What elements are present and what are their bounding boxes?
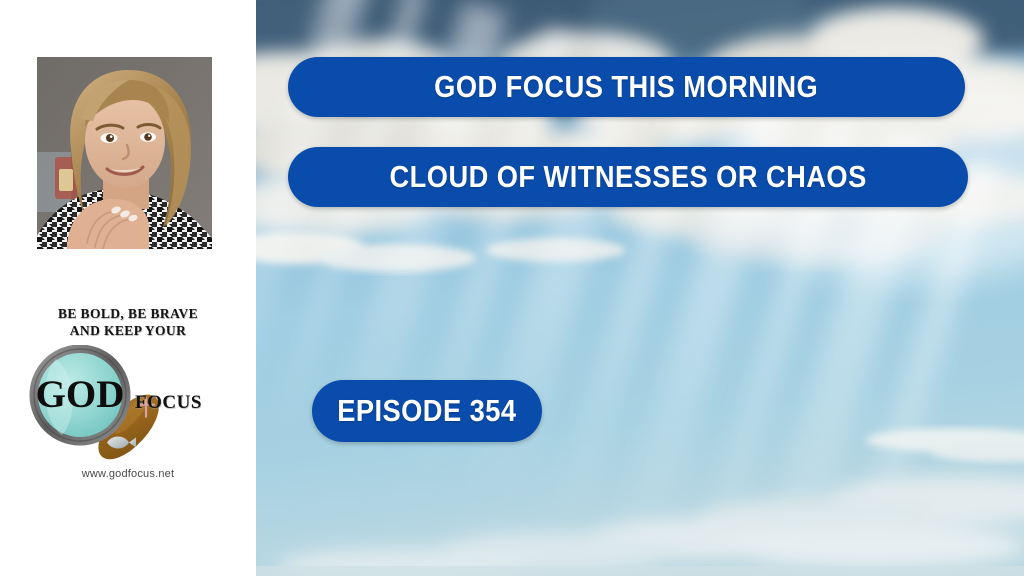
portrait-illustration — [37, 57, 212, 249]
lens-word-god: GOD — [36, 373, 125, 416]
tagline-line-1: BE BOLD, BE BRAVE — [58, 306, 198, 321]
logo-focus-word: FOCUS — [135, 392, 202, 414]
banner-episode-title[interactable]: CLOUD OF WITNESSES OR CHAOS — [288, 147, 968, 207]
episode-number-badge[interactable]: EPISODE 354 — [312, 380, 542, 442]
logo-mark: GOD FOCUS — [0, 345, 256, 465]
banner-show-title[interactable]: GOD FOCUS THIS MORNING — [288, 57, 965, 117]
banner-show-title-label: GOD FOCUS THIS MORNING — [434, 69, 818, 105]
main-cover-panel: GOD FOCUS THIS MORNING CLOUD OF WITNESSE… — [256, 0, 1024, 576]
episode-number-label: EPISODE 354 — [337, 393, 516, 429]
sidebar: BE BOLD, BE BRAVE AND KEEP YOUR — [0, 0, 256, 576]
brand-tagline: BE BOLD, BE BRAVE AND KEEP YOUR — [0, 305, 256, 339]
episode-cover-graphic: BE BOLD, BE BRAVE AND KEEP YOUR — [0, 0, 1024, 576]
host-portrait-photo — [37, 57, 212, 249]
banner-episode-title-label: CLOUD OF WITNESSES OR CHAOS — [389, 159, 866, 195]
brand-logo: BE BOLD, BE BRAVE AND KEEP YOUR — [0, 305, 256, 495]
tagline-line-2: AND KEEP YOUR — [0, 322, 256, 339]
website-url: www.godfocus.net — [0, 468, 256, 480]
